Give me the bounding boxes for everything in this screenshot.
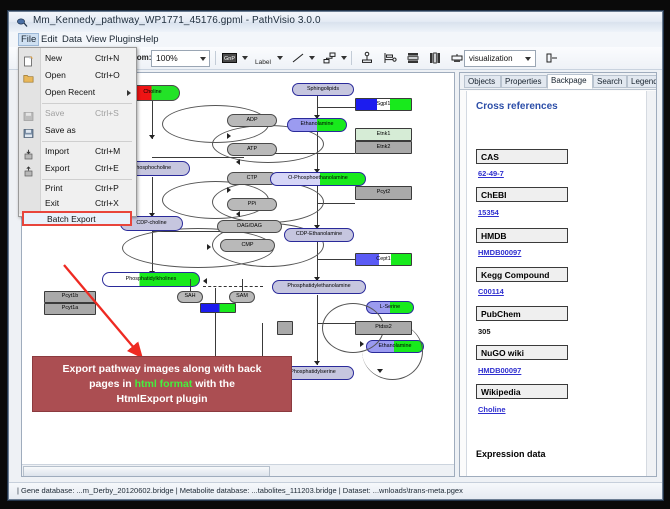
node-label: Ptdss2	[375, 325, 391, 330]
xref-db-name: Wikipedia	[481, 387, 521, 397]
arrowhead-left-methyl	[203, 278, 207, 284]
side-panel-tabs: Objects Properties Backpage Search Legen…	[460, 73, 656, 90]
menu-accelerator: Ctrl+P	[95, 183, 119, 193]
xref-value-kegg[interactable]: C00114	[478, 287, 504, 296]
xref-value-cas[interactable]: 62-49-7	[478, 169, 504, 178]
node-label: Cept1	[376, 257, 390, 262]
menu-accelerator: Ctrl+O	[95, 70, 120, 80]
toolbar-separator-2	[351, 51, 352, 65]
stack-button[interactable]	[406, 51, 420, 65]
menu-bar: File Edit Data View Plugins Help	[9, 32, 662, 48]
node-etnk1[interactable]: Etnk1	[355, 128, 412, 141]
callout-highlight: html format	[135, 378, 193, 390]
node-cept1[interactable]: Cept1	[355, 253, 412, 266]
node-label: SAH	[184, 294, 195, 299]
callout-l2-a: pages in	[89, 378, 135, 390]
group-icon	[450, 51, 464, 65]
new-document-icon	[23, 56, 34, 67]
label-dropdown-icon[interactable]	[277, 56, 283, 60]
xref-value-nugo[interactable]: HMDB00097	[478, 366, 521, 375]
xref-header-chebi: ChEBI	[476, 187, 568, 202]
node-label: PPi	[248, 202, 256, 207]
node-label: Phosphatidylethanolamine	[287, 284, 350, 289]
arrowhead-down-r5	[314, 361, 320, 365]
expression-data-title: Expression data	[476, 449, 546, 459]
xref-header-wikipedia: Wikipedia	[476, 384, 568, 399]
node-atp[interactable]: ATP	[227, 143, 277, 156]
node-label: ADP	[246, 118, 257, 123]
xref-value-pubchem: 305	[478, 327, 491, 336]
xref-header-kegg: Kegg Compound	[476, 267, 568, 282]
xref-db-name: ChEBI	[481, 190, 507, 200]
menu-accelerator: Ctrl+N	[95, 53, 119, 63]
menu-item-new[interactable]: New Ctrl+N	[19, 51, 136, 66]
node-hidden-behind-callout[interactable]	[200, 303, 236, 313]
tab-objects[interactable]: Objects	[464, 75, 501, 88]
xref-db-name: Kegg Compound	[481, 270, 549, 280]
arrowhead-down-1	[149, 135, 155, 139]
xref-header-cas: CAS	[476, 149, 568, 164]
menu-accelerator: Ctrl+X	[95, 198, 119, 208]
menu-label: Save	[45, 108, 64, 118]
node-sah[interactable]: SAH	[177, 291, 203, 303]
label-button-text: Label	[255, 59, 271, 66]
menu-label: Import	[45, 146, 69, 156]
node-o-phosphoethanolamine[interactable]: O-Phosphoethanolamine	[270, 172, 366, 186]
node-label: L-Serine	[380, 305, 400, 310]
menu-file[interactable]: File	[18, 33, 39, 46]
menu-edit[interactable]: Edit	[38, 34, 60, 45]
node-label: DAG/DAG	[237, 224, 262, 229]
arrowhead-right-cmp	[207, 244, 211, 250]
screenshot-frame: Mm_Kennedy_pathway_WP1771_45176.gpml - P…	[0, 0, 670, 509]
xref-db-name: PubChem	[481, 309, 521, 319]
datanode-dropdown-icon[interactable]	[242, 56, 248, 60]
menu-data[interactable]: Data	[59, 34, 85, 45]
xref-header-nugo: NuGO wiki	[476, 345, 568, 360]
anchor-icon	[360, 51, 374, 65]
file-menu-popup[interactable]: New Ctrl+N Open Ctrl+O Open Recent Save …	[18, 47, 137, 217]
label-button[interactable]: Label	[255, 51, 271, 65]
node-label: Sgpl1	[377, 102, 391, 107]
menu-label: Export	[45, 163, 70, 173]
callout-line-2: pages in html format with the	[33, 377, 291, 392]
menu-label: Exit	[45, 198, 59, 208]
window-title: Mm_Kennedy_pathway_WP1771_45176.gpml - P…	[33, 15, 321, 26]
pathvisio-icon	[16, 16, 28, 28]
datanode-button[interactable]: GnP	[221, 51, 238, 65]
menu-item-open-recent[interactable]: Open Recent	[19, 85, 136, 100]
tab-search[interactable]: Search	[593, 75, 627, 88]
node-adp[interactable]: ADP	[227, 114, 277, 127]
edge-sah-stem	[190, 279, 191, 291]
node-dag[interactable]: DAG/DAG	[217, 220, 282, 233]
node-label: Phosphatidylserine	[290, 370, 336, 375]
node-label: Etnk1	[377, 132, 391, 137]
menu-label: Save as	[45, 125, 76, 135]
menu-item-export[interactable]: Export Ctrl+E	[19, 161, 136, 176]
zoom-combobox[interactable]: 100%	[151, 50, 210, 67]
menu-item-exit[interactable]: Exit Ctrl+X	[19, 196, 136, 211]
xref-db-name: CAS	[481, 152, 499, 162]
cross-references-title: Cross references	[476, 101, 558, 112]
edge-sam-stem	[242, 279, 243, 291]
line-dropdown-icon[interactable]	[309, 56, 315, 60]
node-ppi[interactable]: PPi	[227, 198, 277, 211]
xref-value-hmdb[interactable]: HMDB00097	[478, 248, 521, 257]
callout-line-1: Export pathway images along with back	[33, 362, 291, 377]
datanode-icon: GnP	[221, 51, 238, 65]
node-sam[interactable]: SAM	[229, 291, 255, 303]
node-phosphatidylethanolamine[interactable]: Phosphatidylethanolamine	[272, 280, 366, 294]
status-bar: | Gene database: ...m_Derby_20120602.bri…	[9, 482, 662, 499]
node-label: CDP-choline	[136, 221, 166, 226]
node-label: Etnk2	[377, 145, 391, 150]
callout-line-3: HtmlExport plugin	[33, 392, 291, 407]
node-label: SAM	[236, 294, 248, 299]
node-label: Choline	[143, 90, 161, 95]
callout-l2-b: with the	[192, 378, 235, 390]
xref-header-hmdb: HMDB	[476, 228, 568, 243]
xref-value-wikipedia[interactable]: Choline	[478, 405, 506, 414]
chevron-down-icon	[200, 57, 206, 61]
side-panel-scrollbar[interactable]	[646, 91, 656, 476]
node-label: O-Phosphoethanolamine	[288, 176, 348, 181]
menu-item-batch-export[interactable]: Batch Export	[22, 211, 132, 226]
menu-accelerator: Ctrl+E	[95, 163, 119, 173]
xref-db-name: HMDB	[481, 231, 507, 241]
menu-item-open[interactable]: Open Ctrl+O	[19, 68, 136, 83]
arrowhead-left-atp	[236, 159, 240, 165]
line-button[interactable]	[290, 51, 306, 65]
arrowhead-right-ctp	[227, 187, 231, 193]
distribute-button[interactable]	[428, 51, 442, 65]
submenu-arrow-icon	[127, 90, 131, 96]
node-label: ATP	[247, 147, 257, 152]
edge-dashed-methylation	[203, 286, 263, 287]
menu-item-print[interactable]: Print Ctrl+P	[19, 181, 136, 196]
xref-db-name: NuGO wiki	[481, 348, 524, 358]
scrollbar-thumb[interactable]	[23, 466, 270, 477]
edge-phosphocholine-cdpcholine	[152, 177, 153, 217]
export-icon	[23, 166, 34, 177]
tab-legend[interactable]: Legend	[627, 75, 657, 88]
visualization-value: visualization	[469, 54, 513, 63]
menu-label: Open Recent	[45, 87, 95, 97]
node-label: CMP	[242, 243, 254, 248]
menu-item-import[interactable]: Import Ctrl+M	[19, 144, 136, 159]
group-button[interactable]	[450, 51, 464, 65]
arrowhead-left-ppi	[236, 211, 240, 217]
node-label: Sphingolipids	[307, 87, 339, 92]
xref-value-chebi[interactable]: 15354	[478, 208, 499, 217]
backpage-content: Cross references CAS 62-49-7 ChEBI 15354…	[466, 91, 657, 476]
canvas-horizontal-scrollbar[interactable]	[22, 464, 454, 476]
edge-cept1-link	[317, 259, 355, 260]
svg-text:GnP: GnP	[224, 56, 235, 62]
tab-properties[interactable]: Properties	[501, 75, 547, 88]
menu-item-save[interactable]: Save Ctrl+S	[19, 106, 136, 121]
menu-accelerator: Ctrl+M	[95, 146, 120, 156]
node-etnk2[interactable]: Etnk2	[355, 141, 412, 154]
node-label: Phosphocholine	[133, 166, 171, 171]
node-label: Ethanolamine	[301, 122, 334, 127]
import-icon	[23, 149, 34, 160]
interaction-icon	[322, 51, 338, 65]
save-disk-icon	[23, 111, 34, 122]
node-sphingolipids[interactable]: Sphingolipids	[292, 83, 354, 96]
layout-icon	[545, 51, 559, 65]
node-cmp[interactable]: CMP	[220, 239, 275, 252]
menu-item-save-as[interactable]: Save as	[19, 123, 136, 138]
annotation-arrow	[62, 263, 167, 368]
node-cdp-ethanolamine[interactable]: CDP-Ethanolamine	[284, 228, 354, 242]
status-bar-text: | Gene database: ...m_Derby_20120602.bri…	[17, 486, 463, 495]
node-pcyt2[interactable]: Pcyt2	[355, 186, 412, 200]
edge-ptdetha-ptdserine	[317, 295, 318, 365]
node-label: CTP	[247, 176, 258, 181]
xref-header-pubchem: PubChem	[476, 306, 568, 321]
layout-button[interactable]	[545, 51, 559, 65]
anchor-button[interactable]	[360, 51, 374, 65]
title-bar: Mm_Kennedy_pathway_WP1771_45176.gpml - P…	[9, 12, 662, 33]
interaction-dropdown-icon[interactable]	[341, 56, 347, 60]
toolbar-separator	[215, 51, 216, 65]
menu-help[interactable]: Help	[136, 34, 162, 45]
menu-label: Open	[45, 70, 66, 80]
node-group-shape[interactable]	[277, 321, 293, 335]
line-icon	[290, 51, 306, 65]
menu-label: Print	[45, 183, 62, 193]
menu-label: New	[45, 53, 62, 63]
side-panel: Objects Properties Backpage Search Legen…	[459, 72, 657, 477]
save-as-icon	[23, 128, 34, 139]
node-label: CDP-Ethanolamine	[296, 232, 342, 237]
align-button[interactable]	[383, 51, 397, 65]
menu-accelerator: Ctrl+S	[95, 108, 119, 118]
node-sgpl1[interactable]: Sgpl1	[355, 98, 412, 111]
open-folder-icon	[23, 73, 34, 84]
tab-backpage[interactable]: Backpage	[547, 74, 593, 89]
visualization-combobox[interactable]: visualization	[464, 50, 536, 67]
edge-sgpl1-link	[317, 107, 355, 108]
node-label: Pcyt2	[377, 190, 390, 195]
node-ethanolamine[interactable]: Ethanolamine	[287, 118, 347, 132]
chevron-down-icon-viz	[525, 57, 531, 61]
menu-label: Batch Export	[47, 214, 96, 224]
application-window: Mm_Kennedy_pathway_WP1771_45176.gpml - P…	[8, 11, 663, 500]
annotation-callout: Export pathway images along with back pa…	[32, 356, 292, 412]
menu-separator-3	[42, 179, 132, 180]
menu-separator-2	[42, 141, 132, 142]
edge-choline-phosphocholine	[152, 101, 153, 139]
arrowhead-right-adp	[227, 133, 231, 139]
stack-icon	[406, 51, 420, 65]
zoom-value: 100%	[156, 53, 178, 63]
node-ptdss2[interactable]: Ptdss2	[355, 321, 412, 335]
menu-separator-1	[42, 103, 132, 104]
distribute-icon	[428, 51, 442, 65]
align-icon	[383, 51, 397, 65]
interaction-button[interactable]	[322, 51, 338, 65]
